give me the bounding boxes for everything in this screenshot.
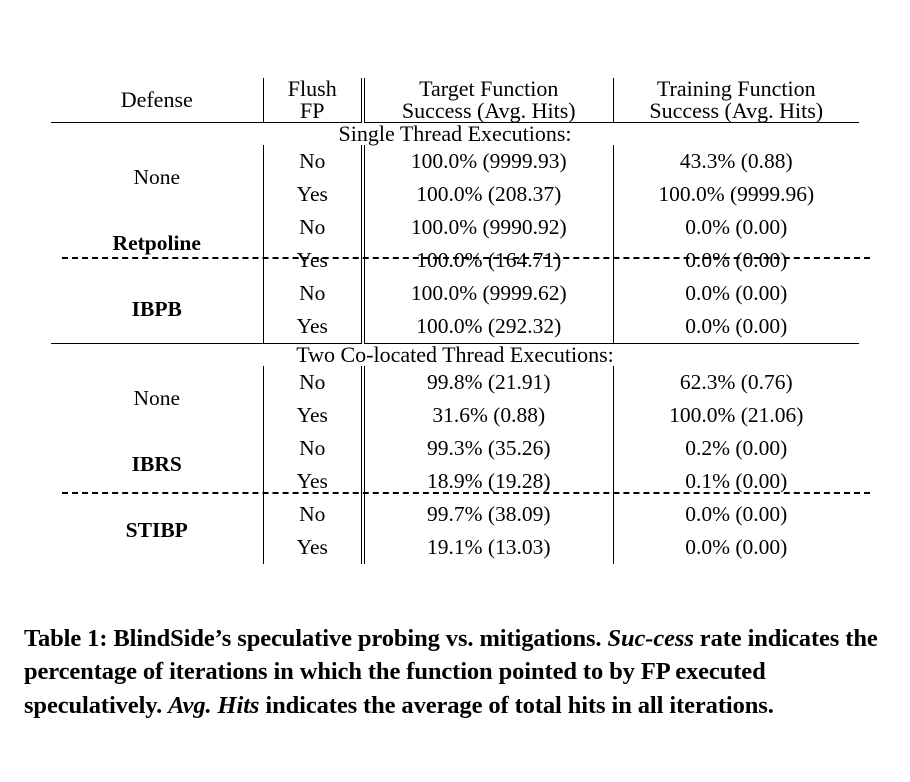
document-page: Defense Flush Target Function Training F… — [0, 0, 910, 782]
target-function-value: 100.0% (9990.92) — [363, 211, 613, 244]
target-function-value: 100.0% (208.37) — [363, 178, 613, 211]
training-function-value: 62.3% (0.76) — [613, 366, 859, 399]
table-row: Retpoline No 100.0% (9990.92) 0.0% (0.00… — [51, 211, 859, 244]
target-function-value: 100.0% (9999.62) — [363, 277, 613, 310]
flush-fp-value: Yes — [263, 178, 363, 211]
column-header-target-function: Target Function — [363, 78, 613, 100]
target-function-value: 99.7% (38.09) — [363, 498, 613, 531]
column-subheader-target: Success (Avg. Hits) — [363, 100, 613, 123]
training-function-value: 0.0% (0.00) — [613, 211, 859, 244]
dashed-separator-retpoline — [62, 257, 870, 259]
flush-fp-value: Yes — [263, 399, 363, 432]
table-row: None No 99.8% (21.91) 62.3% (0.76) — [51, 366, 859, 399]
training-function-value: 0.2% (0.00) — [613, 432, 859, 465]
column-header-flush-line1: Flush — [263, 78, 363, 100]
defense-label-none-1: None — [51, 145, 263, 211]
target-function-value: 31.6% (0.88) — [363, 399, 613, 432]
caption-part3: indicates the average of total hits in a… — [259, 692, 773, 719]
target-function-value: 100.0% (9999.93) — [363, 145, 613, 178]
column-header-training-function: Training Function — [613, 78, 859, 100]
defense-label-ibrs: IBRS — [51, 432, 263, 498]
caption-emphasis-success: Suc-cess — [607, 625, 693, 652]
training-function-value: 0.0% (0.00) — [613, 531, 859, 564]
caption-label: Table 1: — [24, 625, 107, 652]
target-function-value: 100.0% (292.32) — [363, 310, 613, 344]
flush-fp-value: No — [263, 432, 363, 465]
caption-emphasis-avg-hits: Avg. Hits — [168, 692, 259, 719]
flush-fp-value: Yes — [263, 531, 363, 564]
flush-fp-value: No — [263, 498, 363, 531]
column-header-flush-line2: FP — [263, 100, 363, 123]
defense-label-retpoline: Retpoline — [51, 211, 263, 277]
target-function-value: 100.0% (164.71) — [363, 244, 613, 277]
flush-fp-value: No — [263, 145, 363, 178]
section-title-two-colocated: Two Co-located Thread Executions: — [51, 344, 859, 366]
table-row: IBPB No 100.0% (9999.62) 0.0% (0.00) — [51, 277, 859, 310]
training-function-value: 0.0% (0.00) — [613, 498, 859, 531]
flush-fp-value: Yes — [263, 310, 363, 344]
flush-fp-value: No — [263, 277, 363, 310]
target-function-value: 19.1% (13.03) — [363, 531, 613, 564]
flush-fp-value: No — [263, 366, 363, 399]
table-caption: Table 1: BlindSide’s speculative probing… — [24, 622, 890, 722]
table-figure: Defense Flush Target Function Training F… — [20, 78, 890, 564]
section-title-row: Two Co-located Thread Executions: — [51, 344, 859, 366]
training-function-value: 0.0% (0.00) — [613, 277, 859, 310]
caption-part1: BlindSide’s speculative probing vs. miti… — [107, 625, 607, 652]
section-title-row: Single Thread Executions: — [51, 123, 859, 145]
training-function-value: 0.0% (0.00) — [613, 310, 859, 344]
section-title-single-thread: Single Thread Executions: — [51, 123, 859, 145]
column-subheader-training: Success (Avg. Hits) — [613, 100, 859, 123]
training-function-value: 0.0% (0.00) — [613, 244, 859, 277]
target-function-value: 99.8% (21.91) — [363, 366, 613, 399]
training-function-value: 100.0% (21.06) — [613, 399, 859, 432]
flush-fp-value: No — [263, 211, 363, 244]
training-function-value: 43.3% (0.88) — [613, 145, 859, 178]
dashed-separator-ibrs — [62, 492, 870, 494]
flush-fp-value: Yes — [263, 244, 363, 277]
column-header-defense: Defense — [51, 78, 263, 123]
training-function-value: 100.0% (9999.96) — [613, 178, 859, 211]
table-row: None No 100.0% (9999.93) 43.3% (0.88) — [51, 145, 859, 178]
defense-label-ibpb: IBPB — [51, 277, 263, 344]
defense-label-none-2: None — [51, 366, 263, 432]
header-row-top: Defense Flush Target Function Training F… — [51, 78, 859, 100]
table-row: STIBP No 99.7% (38.09) 0.0% (0.00) — [51, 498, 859, 531]
target-function-value: 99.3% (35.26) — [363, 432, 613, 465]
defense-label-stibp: STIBP — [51, 498, 263, 564]
table-row: IBRS No 99.3% (35.26) 0.2% (0.00) — [51, 432, 859, 465]
